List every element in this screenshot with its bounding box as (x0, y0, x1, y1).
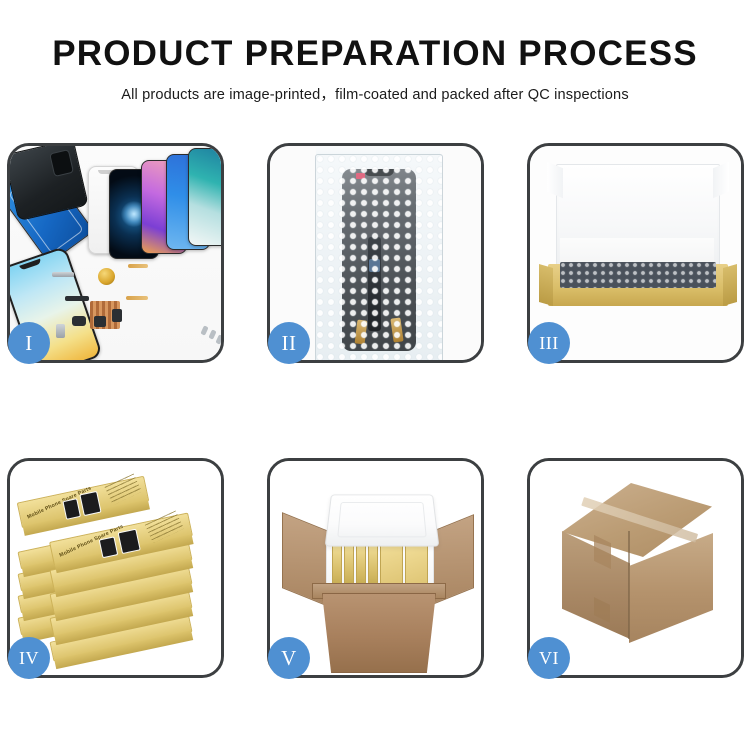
product-preparation-infographic: PRODUCT PREPARATION PROCESS All products… (0, 0, 750, 750)
sealed-carton-icon (544, 483, 734, 661)
step-badge-1: I (8, 322, 50, 364)
box-art-screen-3 (99, 536, 119, 558)
process-step-6: VI (527, 458, 744, 678)
flex-cable-icon-1 (128, 264, 148, 268)
bubble-wrap-bag-icon (315, 154, 443, 360)
retail-box-top: Mobile Phone Spare Parts (17, 476, 150, 528)
screws-icon (202, 326, 221, 346)
header: PRODUCT PREPARATION PROCESS All products… (0, 0, 750, 104)
phone-screen-teal-icon (188, 148, 221, 246)
process-step-4: Mobile Phone Spare Parts Mobile Phone Sp… (7, 458, 224, 678)
retail-box-stack-icon: Mobile Phone Spare Parts Mobile Phone Sp… (14, 477, 221, 669)
step-badge-4: IV (8, 637, 50, 679)
step-badge-3: III (528, 322, 570, 364)
bubble-texture (316, 155, 442, 360)
vibrator-part-icon (72, 316, 86, 326)
box-art-text-lines-1 (105, 474, 142, 506)
bubble-wrapped-contents-icon (560, 262, 716, 288)
foam-lid-icon (325, 494, 440, 546)
process-step-grid: I II (7, 143, 743, 679)
flex-cable-icon-2 (126, 296, 148, 300)
button-part-icon (112, 309, 122, 322)
copper-coil-icon (98, 268, 115, 285)
speaker-part-icon (52, 272, 74, 277)
step-badge-5: V (268, 637, 310, 679)
box-art-screen-2 (79, 491, 101, 516)
box-art-screen-4 (118, 529, 141, 554)
page-subtitle: All products are image-printed，film-coat… (0, 83, 750, 104)
camera-module-icon (94, 316, 106, 327)
carton-front-panel (322, 593, 436, 673)
process-step-3: III (527, 143, 744, 363)
process-step-2: II (267, 143, 484, 363)
process-step-5: V (267, 458, 484, 678)
flex-cable-icon-3 (65, 296, 89, 301)
page-title: PRODUCT PREPARATION PROCESS (0, 36, 750, 73)
carton-with-foam-icon (282, 483, 474, 663)
step-badge-6: VI (528, 637, 570, 679)
carton-vertical-edge (628, 531, 630, 639)
process-step-1: I (7, 143, 224, 363)
step-badge-2: II (268, 322, 310, 364)
box-art-screen-1 (62, 498, 81, 520)
sim-tray-icon (56, 324, 65, 338)
